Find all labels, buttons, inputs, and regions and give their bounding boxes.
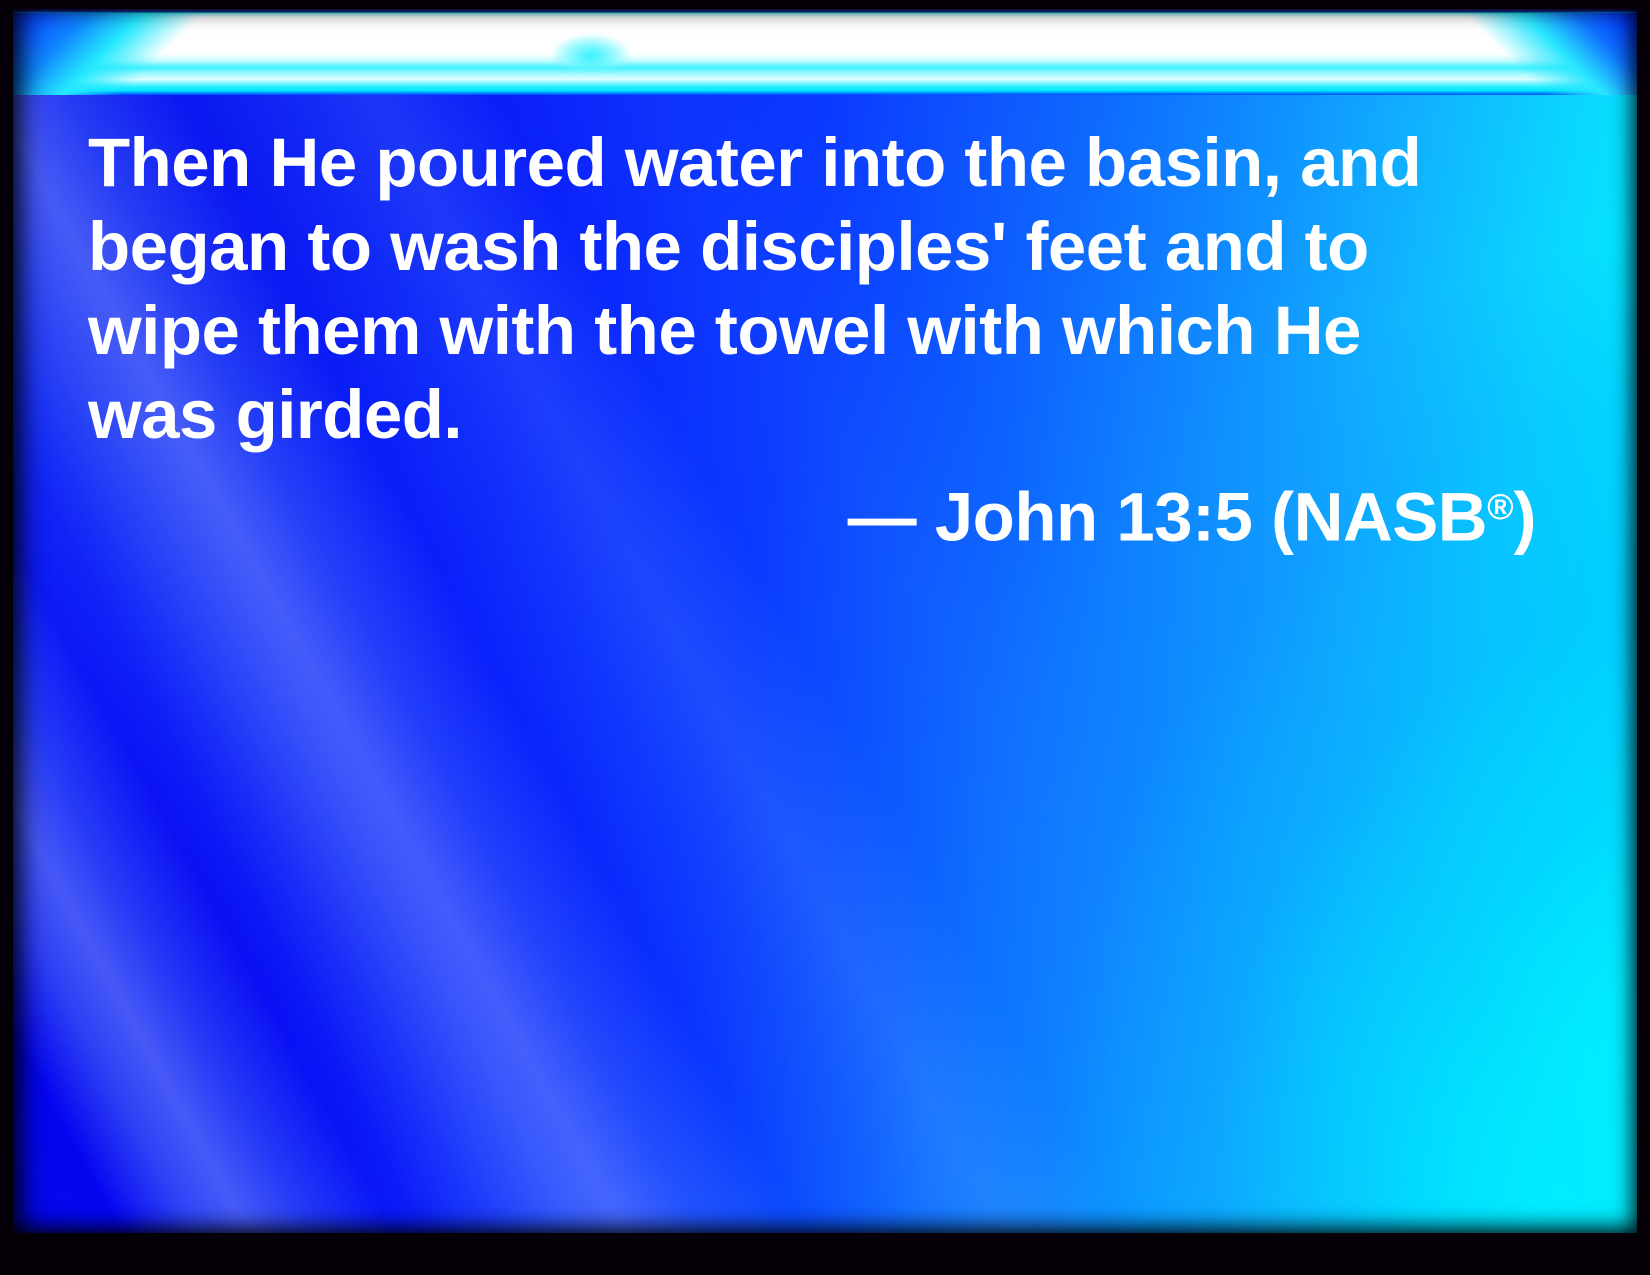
verse-attribution: — John 13:5 (NASB®) [88,465,1548,560]
top-band-right-wedge [1427,9,1637,95]
verse-slide: Then He poured water into the basin, and… [0,0,1650,1275]
attribution-spacer-2 [1252,479,1271,556]
slide-artwork-panel: Then He poured water into the basin, and… [13,9,1637,1233]
attribution-translation: NASB [1294,479,1488,556]
top-band-cyan-bump [553,35,629,69]
top-band-left-wedge [13,9,263,95]
verse-line-3: wipe them with the towel with which He [88,289,1548,373]
attribution-em-dash: — [848,479,917,556]
verse-line-4: was girded. [88,373,1548,457]
attribution-close-paren: ) [1514,479,1536,556]
verse-text-block: Then He poured water into the basin, and… [88,121,1548,457]
top-glow-band [13,9,1637,95]
top-band-hairline [13,9,1637,13]
attribution-open-paren: ( [1271,479,1293,556]
verse-line-1: Then He poured water into the basin, and [88,121,1548,205]
registered-trademark-icon: ® [1487,487,1513,527]
attribution-spacer-1 [916,479,935,556]
attribution-reference: John 13:5 [935,479,1253,556]
verse-line-2: began to wash the disciples' feet and to [88,205,1548,289]
